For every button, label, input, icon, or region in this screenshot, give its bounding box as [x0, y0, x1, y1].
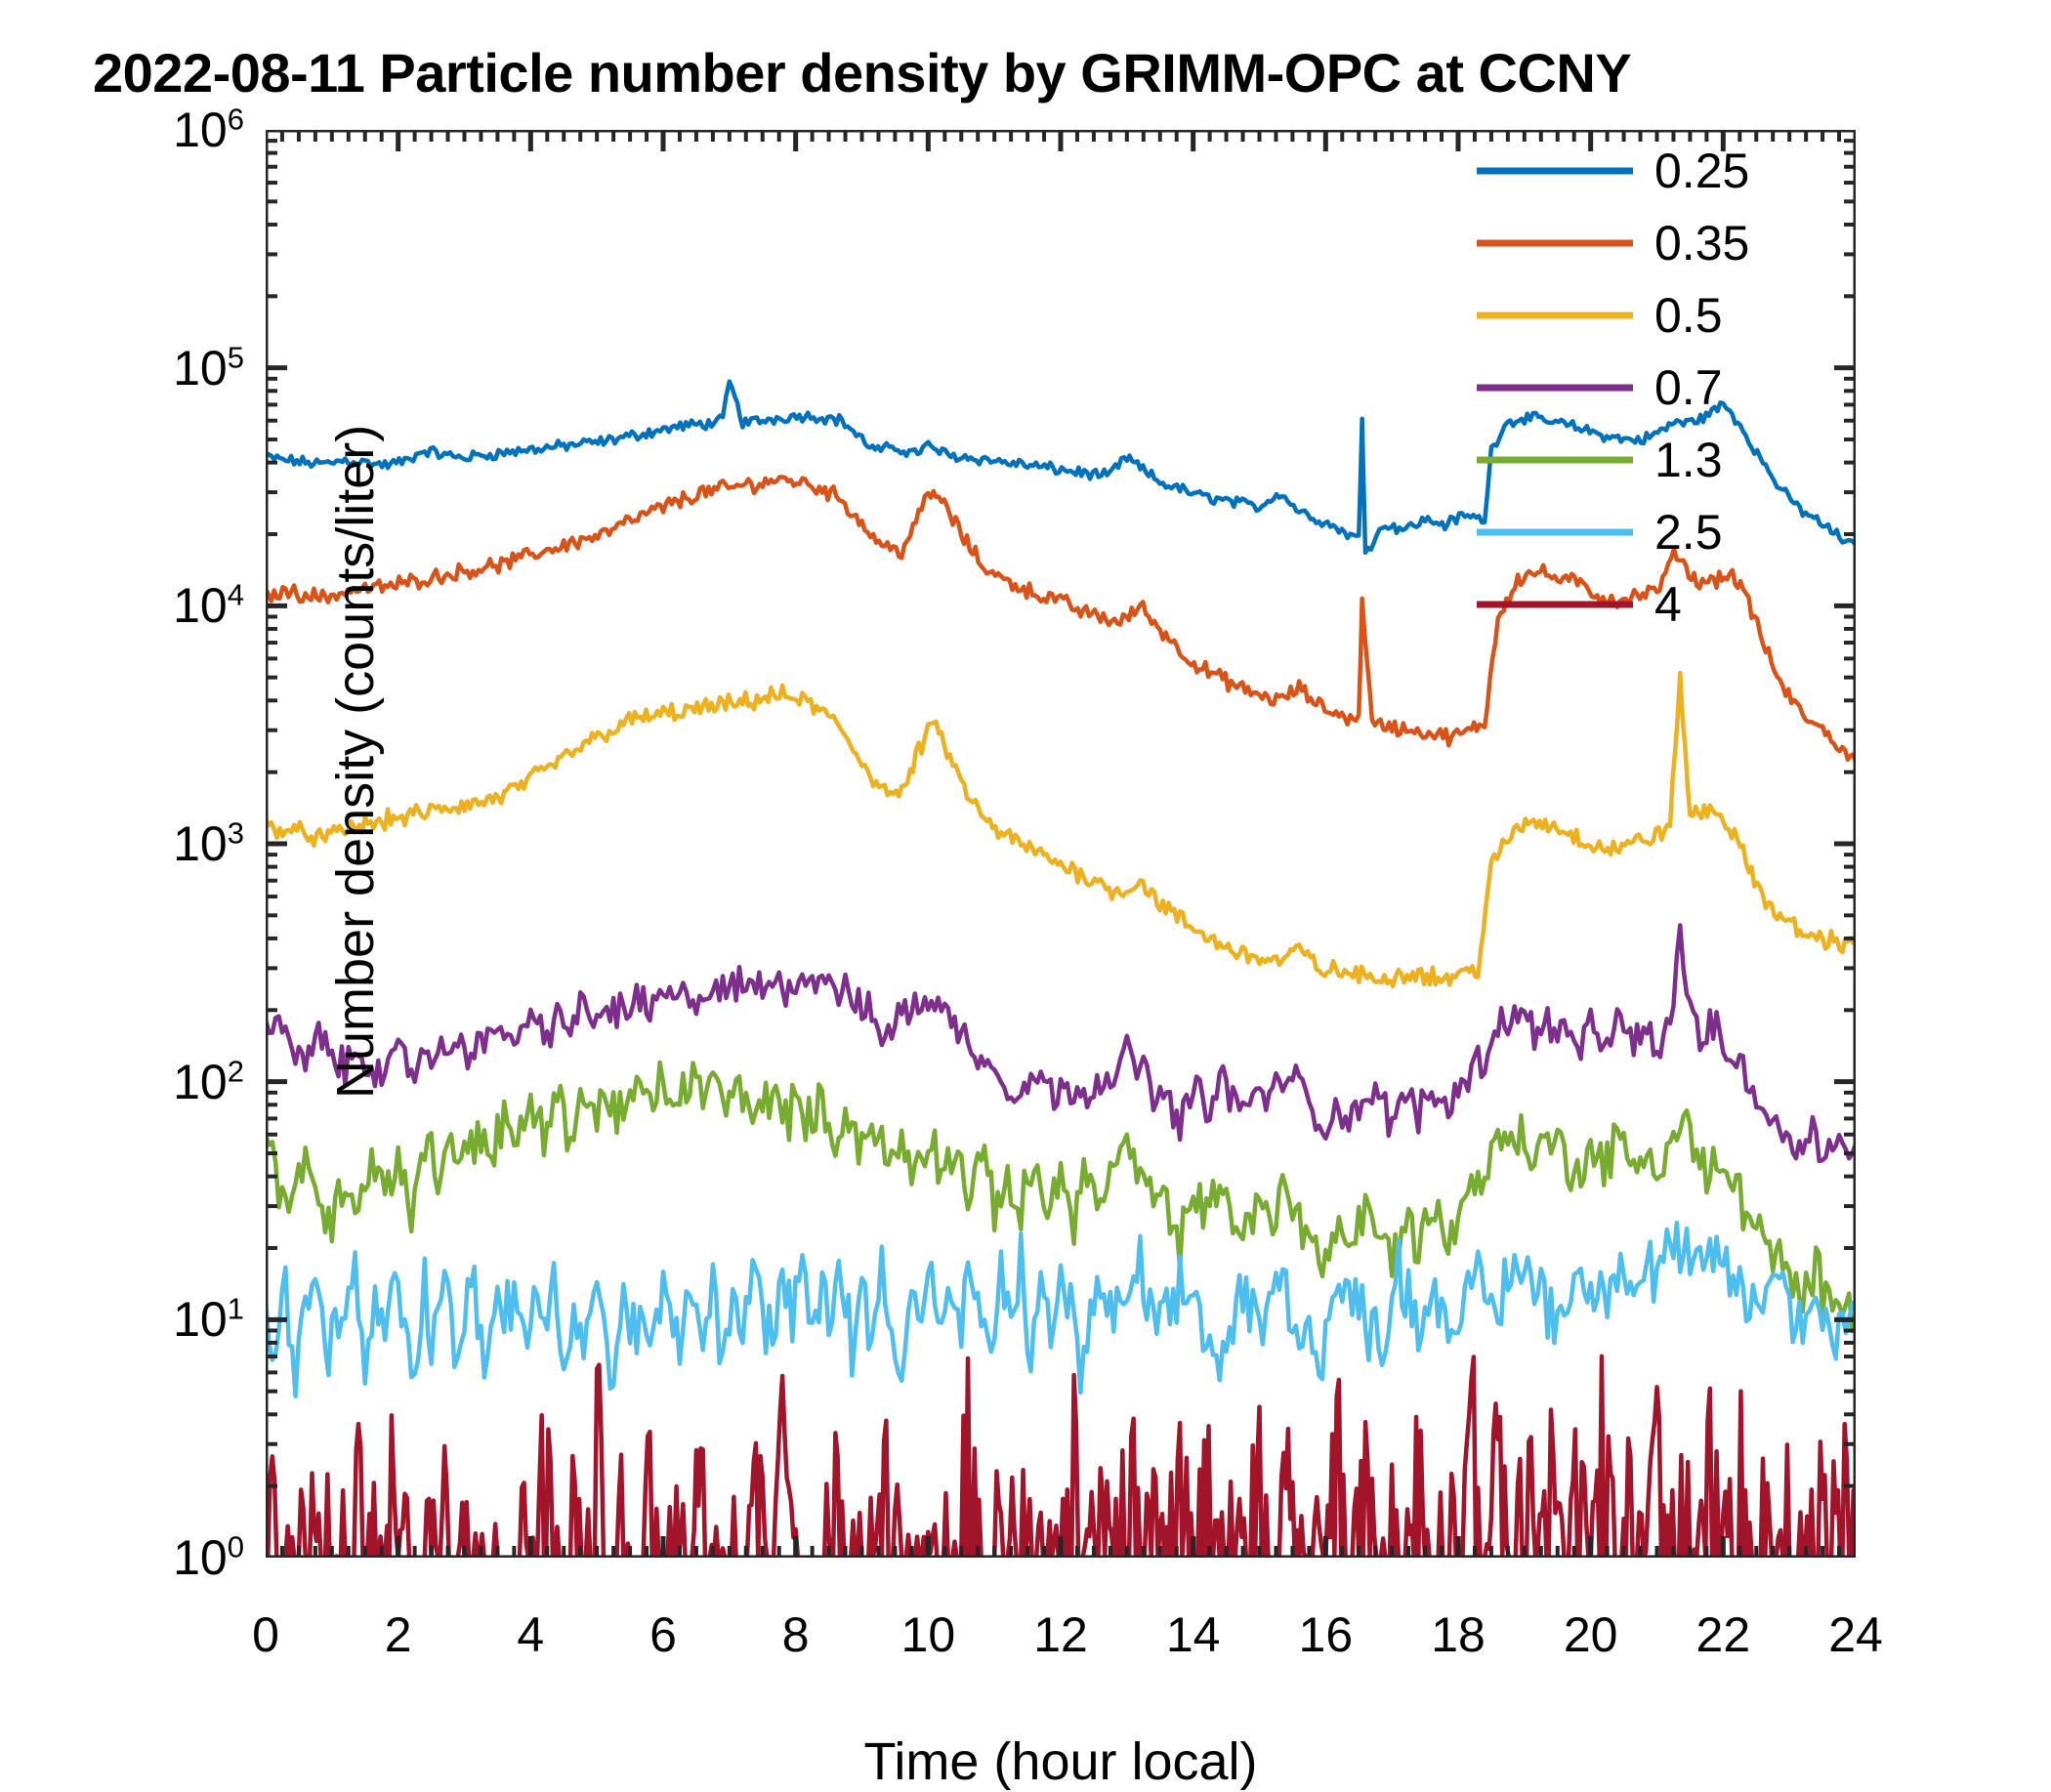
y-tick-label: 105: [173, 340, 244, 396]
series-line-0.25: [266, 382, 1856, 553]
legend-label-0.25[interactable]: 0.25: [1654, 143, 1749, 199]
x-tick-label: 8: [782, 1606, 810, 1663]
x-tick-label: 20: [1564, 1606, 1618, 1663]
y-tick-label: 106: [173, 102, 244, 158]
legend-label-4[interactable]: 4: [1654, 576, 1682, 633]
x-tick-label: 4: [517, 1606, 544, 1663]
legend-label-0.7[interactable]: 0.7: [1654, 359, 1723, 416]
x-tick-label: 12: [1033, 1606, 1088, 1663]
y-tick-label: 104: [173, 577, 244, 634]
page-title: 2022-08-11 Particle number density by GR…: [93, 41, 1631, 104]
y-tick-label: 103: [173, 815, 244, 872]
series-line-2.5: [266, 1223, 1856, 1396]
legend-label-1.3[interactable]: 1.3: [1654, 432, 1723, 488]
x-tick-label: 2: [385, 1606, 412, 1663]
x-tick-label: 14: [1166, 1606, 1221, 1663]
x-tick-label: 16: [1299, 1606, 1354, 1663]
series-line-0.35: [266, 478, 1856, 763]
series-line-0.5: [266, 673, 1856, 986]
legend-label-0.5[interactable]: 0.5: [1654, 287, 1723, 344]
plot-svg: [266, 130, 1856, 1558]
x-tick-label: 22: [1696, 1606, 1751, 1663]
x-tick-label: 24: [1828, 1606, 1883, 1663]
x-tick-label: 6: [649, 1606, 677, 1663]
y-tick-label: 102: [173, 1054, 244, 1110]
legend-lines-group: [1477, 171, 1633, 604]
x-axis-label: Time (hour local): [266, 1731, 1856, 1792]
y-tick-label: 101: [173, 1291, 244, 1348]
legend-label-2.5[interactable]: 2.5: [1654, 504, 1723, 561]
axes-group: [266, 130, 1856, 1558]
legend-label-0.35[interactable]: 0.35: [1654, 215, 1749, 271]
x-tick-label: 0: [252, 1606, 279, 1663]
chart-page: 2022-08-11 Particle number density by GR…: [0, 0, 2051, 1758]
x-tick-label: 10: [901, 1606, 956, 1663]
series-group: [266, 382, 1856, 1558]
y-axis-label: Number density (counts/liter): [325, 474, 386, 1099]
plot-area: Number density (counts/liter) Time (hour…: [266, 130, 1856, 1558]
x-tick-label: 18: [1431, 1606, 1486, 1663]
series-line-4: [266, 1356, 1856, 1558]
y-tick-label: 100: [173, 1529, 244, 1586]
